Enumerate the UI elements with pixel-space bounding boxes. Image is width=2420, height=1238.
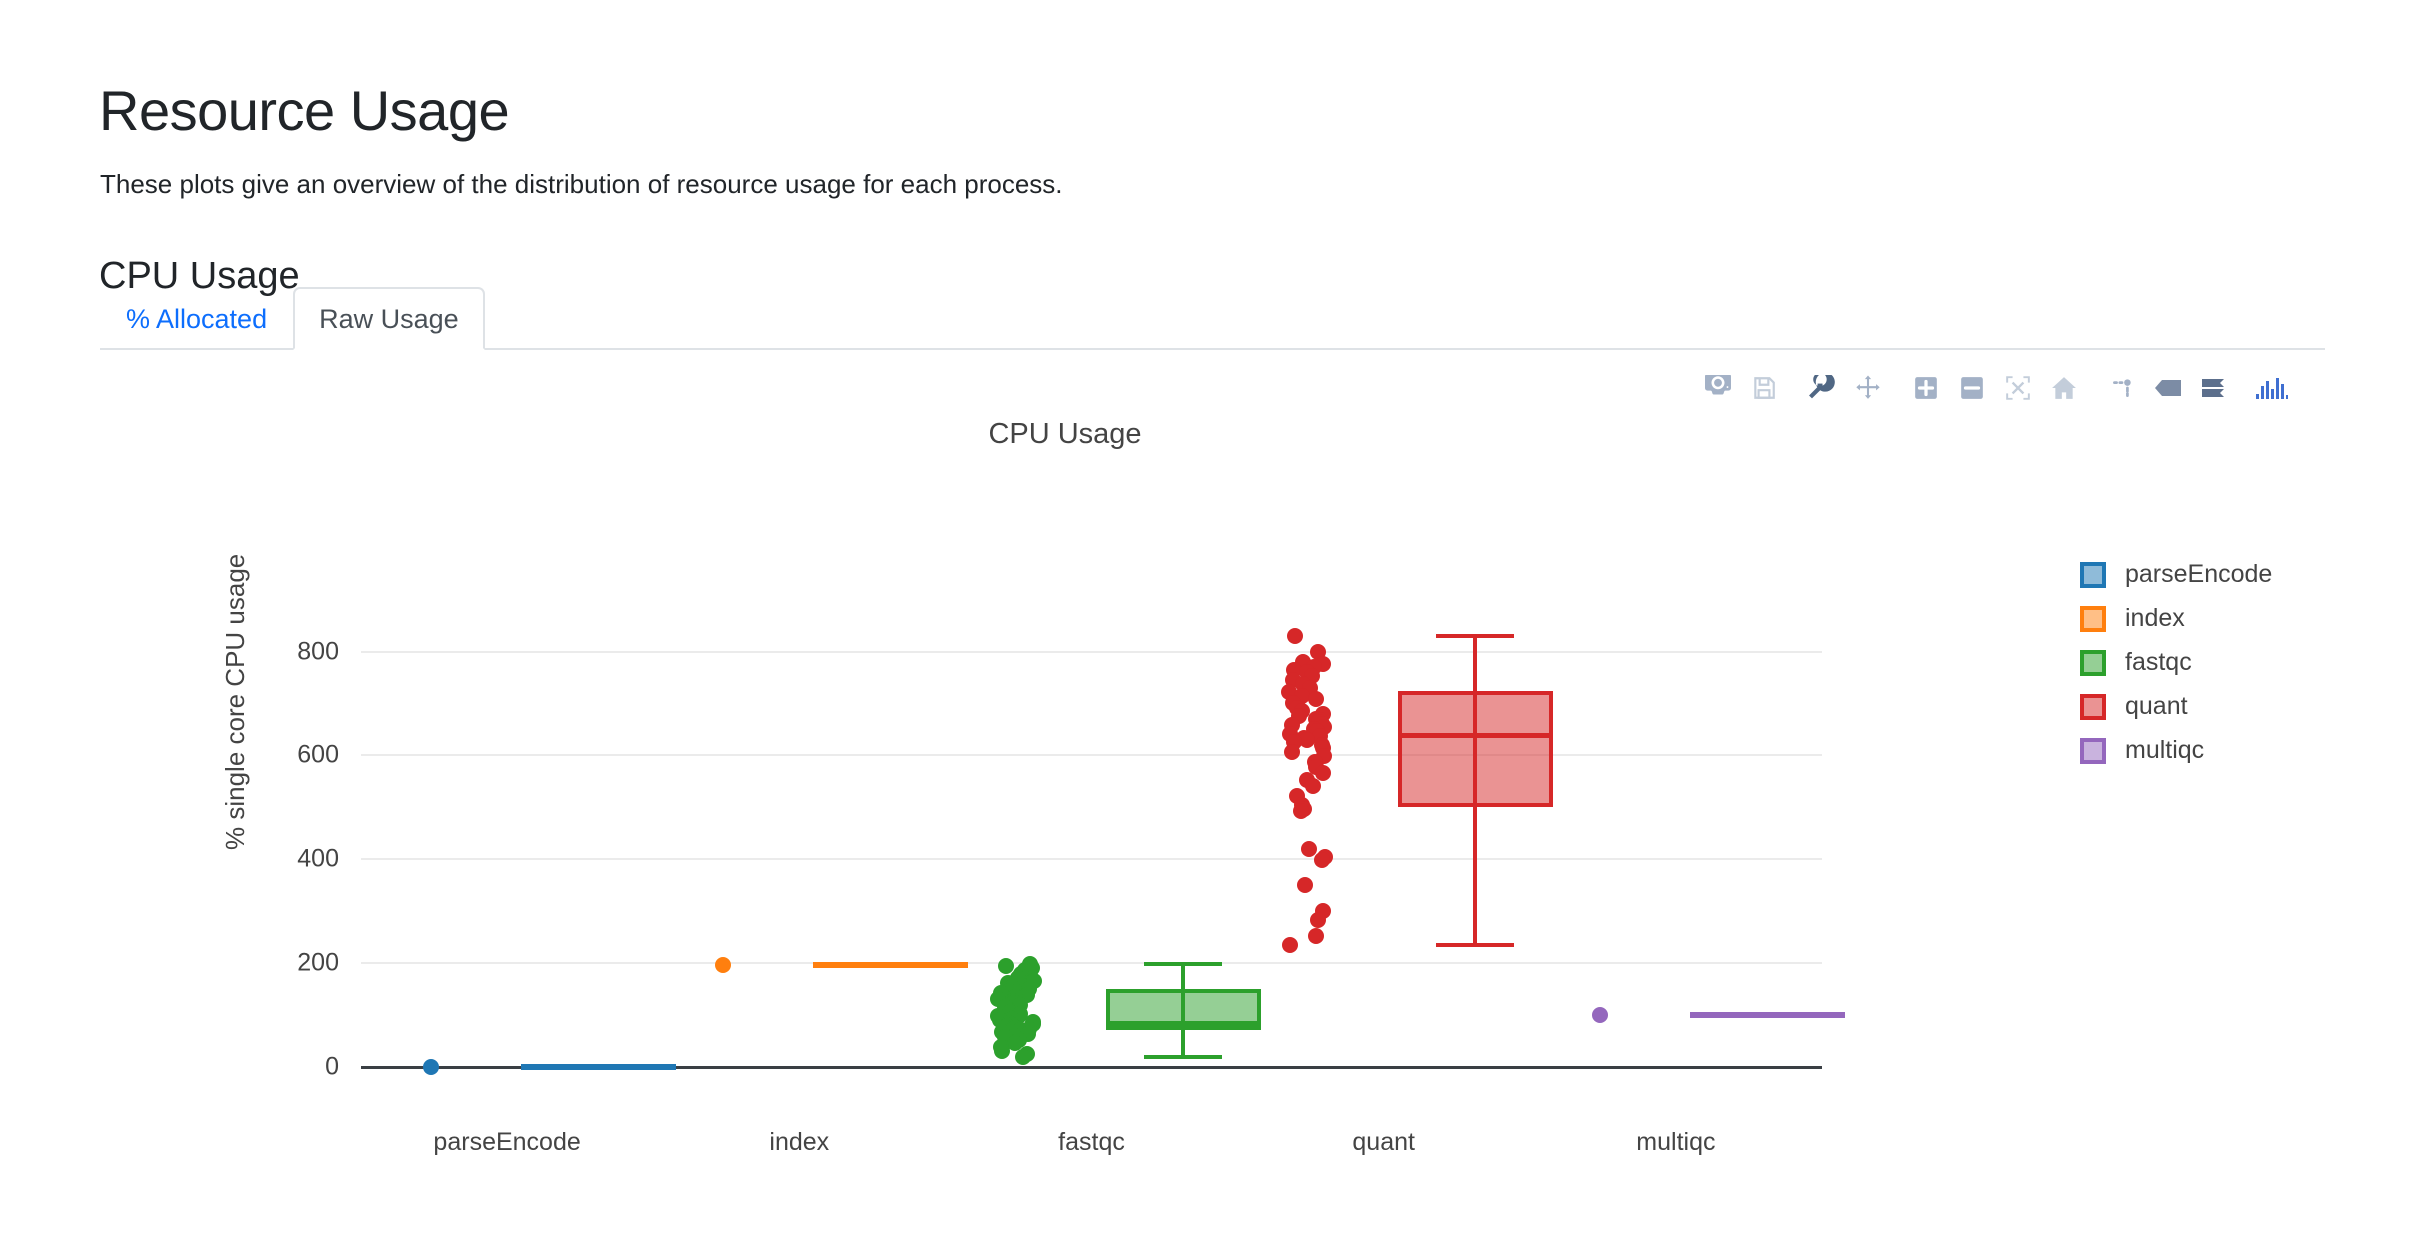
data-point[interactable] [1315,765,1331,781]
zoom-magnifier-icon[interactable] [1799,365,1845,411]
legend-label-index: index [2125,604,2185,633]
page-subtitle: These plots give an overview of the dist… [100,169,1063,200]
legend-label-parseEncode: parseEncode [2125,560,2272,589]
box-median-fastqc [1106,1021,1261,1026]
data-point[interactable] [1015,1049,1031,1065]
legend-swatch-parseEncode [2080,562,2106,588]
page-title: Resource Usage [99,80,509,142]
tab-bar: % Allocated Raw Usage [100,288,2325,350]
box-index[interactable] [813,962,968,968]
data-point[interactable] [1284,744,1300,760]
box-whisker-cap-quant-upper [1436,634,1514,638]
legend-swatch-quant [2080,694,2106,720]
autoscale-icon[interactable] [1995,365,2041,411]
x-tick-multiqc: multiqc [1636,1128,1715,1157]
toggle-spike-lines-icon[interactable] [2099,365,2145,411]
hover-closest-icon[interactable] [2145,365,2191,411]
legend-item-parseEncode[interactable]: parseEncode [2080,560,2272,589]
x-tick-quant: quant [1352,1128,1415,1157]
box-median-quant [1398,733,1553,738]
y-tick-800: 800 [297,637,339,666]
cpu-usage-plot-card: CPU Usage 0200400600800parseEncodeindexf… [100,350,2325,1190]
box-whisker-cap-fastqc-upper [1144,962,1222,966]
zoom-in-plus-icon[interactable] [1903,365,1949,411]
zoom-out-minus-icon[interactable] [1949,365,1995,411]
legend-label-multiqc: multiqc [2125,736,2204,765]
data-point[interactable] [1310,912,1326,928]
data-point[interactable] [1293,803,1309,819]
data-point[interactable] [423,1059,439,1075]
save-disk-icon[interactable] [1741,365,1787,411]
data-point[interactable] [1592,1007,1608,1023]
legend-item-multiqc[interactable]: multiqc [2080,736,2272,765]
reset-axes-home-icon[interactable] [2041,365,2087,411]
data-point[interactable] [1287,628,1303,644]
legend-swatch-fastqc [2080,650,2106,676]
gridline-200 [361,962,1822,964]
legend-item-fastqc[interactable]: fastqc [2080,648,2272,677]
data-point[interactable] [1314,852,1330,868]
plotly-modebar [1695,365,2295,411]
y-tick-200: 200 [297,948,339,977]
plot-area[interactable]: 0200400600800parseEncodeindexfastqcquant… [361,610,1822,1090]
box-quant[interactable] [1398,691,1553,807]
y-axis-label: % single core CPU usage [220,554,251,850]
resource-usage-page: Resource Usage These plots give an overv… [0,0,2420,1238]
legend-item-index[interactable]: index [2080,604,2272,633]
download-plot-png-icon[interactable] [1695,365,1741,411]
legend-swatch-index [2080,606,2106,632]
data-point[interactable] [994,1043,1010,1059]
data-point[interactable] [715,957,731,973]
x-tick-fastqc: fastqc [1058,1128,1125,1157]
x-tick-index: index [769,1128,829,1157]
hover-compare-icon[interactable] [2191,365,2237,411]
chart-title: CPU Usage [100,418,2030,451]
box-parseEncode[interactable] [521,1064,676,1070]
data-point[interactable] [1297,877,1313,893]
tab-percent-allocated[interactable]: % Allocated [100,287,293,350]
tab-raw-usage[interactable]: Raw Usage [293,287,485,350]
data-point[interactable] [1308,928,1324,944]
gridline-400 [361,858,1822,860]
legend-label-quant: quant [2125,692,2188,721]
legend-item-quant[interactable]: quant [2080,692,2272,721]
legend-swatch-multiqc [2080,738,2106,764]
y-tick-0: 0 [325,1052,339,1081]
y-tick-600: 600 [297,741,339,770]
plotly-logo-icon[interactable] [2249,365,2295,411]
data-point[interactable] [1282,937,1298,953]
box-whisker-cap-fastqc-lower [1144,1055,1222,1059]
gridline-800 [361,651,1822,653]
box-whisker-cap-quant-lower [1436,943,1514,947]
legend-label-fastqc: fastqc [2125,648,2192,677]
x-tick-parseEncode: parseEncode [433,1128,580,1157]
chart-legend: parseEncode index fastqc quant multiqc [2080,560,2272,765]
box-multiqc[interactable] [1690,1012,1845,1018]
data-point[interactable] [1305,778,1321,794]
gridline-600 [361,754,1822,756]
y-tick-400: 400 [297,845,339,874]
pan-move-icon[interactable] [1845,365,1891,411]
